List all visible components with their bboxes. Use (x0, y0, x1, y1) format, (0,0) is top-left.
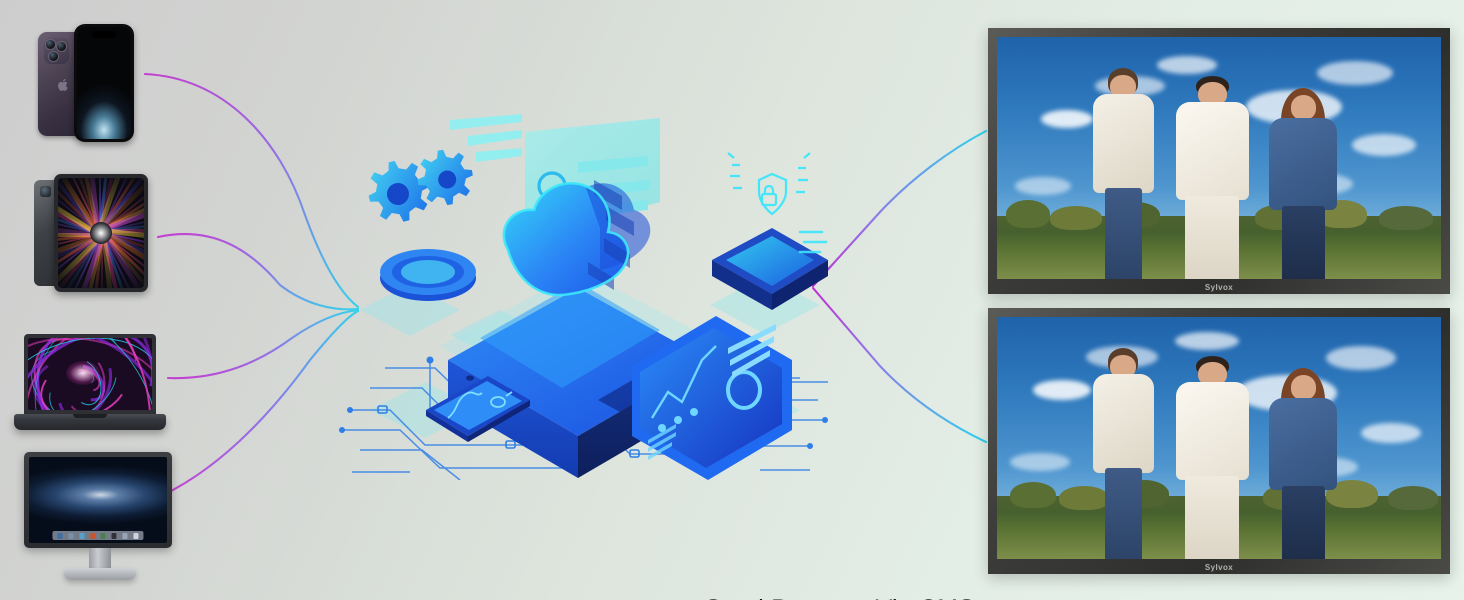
link-phone-to-cms (145, 74, 358, 307)
model-center (1175, 356, 1250, 559)
model-left (1090, 348, 1157, 559)
camera-module-icon (44, 38, 69, 64)
monitor-panel (24, 452, 172, 548)
page-title: Send Program Via CMS (330, 595, 1350, 600)
display-brand-label-bottom: Sylvox (1205, 563, 1233, 572)
source-device-laptop[interactable] (14, 330, 172, 434)
trackpad-notch (73, 414, 107, 418)
tablet-front-screen (54, 174, 148, 292)
dock-bar (52, 531, 143, 540)
signage-display-bottom[interactable]: Sylvox (988, 308, 1450, 574)
display-screen-top (997, 37, 1441, 279)
link-cms-to-display-top (813, 131, 986, 286)
display-brand-label-top: Sylvox (1205, 283, 1233, 292)
apple-logo-icon (58, 78, 70, 92)
model-center (1175, 76, 1250, 279)
laptop-base (14, 414, 166, 430)
signage-workflow-diagram: Send Program Via CMS (0, 0, 1464, 600)
source-device-smartphone[interactable] (30, 18, 142, 150)
phone-front-screen (74, 24, 134, 142)
model-right (1268, 368, 1339, 559)
signage-display-top[interactable]: Sylvox (988, 28, 1450, 294)
camera-icon (40, 186, 51, 197)
model-left (1090, 68, 1157, 279)
cloud-cms-illustration: Send Program Via CMS (330, 110, 830, 480)
laptop-lid (24, 334, 156, 416)
link-tablet-to-cms (158, 234, 358, 309)
link-cms-to-display-bottom (813, 288, 986, 442)
security-chip-icon (712, 153, 830, 310)
dynamic-island-icon (92, 31, 116, 38)
source-device-tablet[interactable] (28, 172, 154, 296)
monitor-neck (89, 548, 111, 570)
source-device-desktop-monitor[interactable] (12, 448, 188, 584)
settings-gears-icon (362, 145, 477, 301)
display-screen-bottom (997, 317, 1441, 559)
model-right (1268, 88, 1339, 279)
monitor-stand-foot (64, 568, 136, 580)
